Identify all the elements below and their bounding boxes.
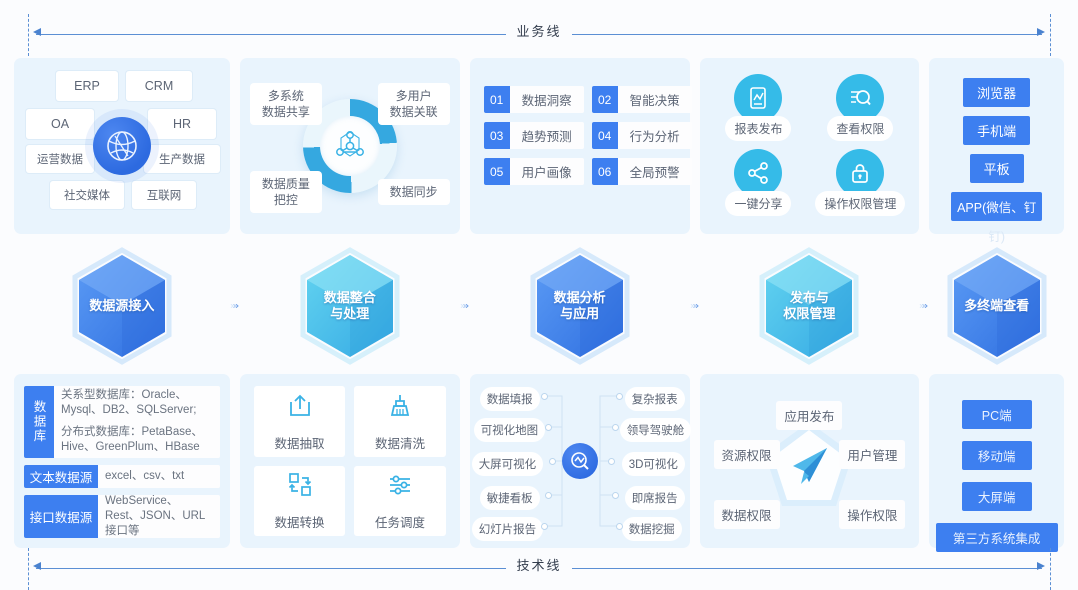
- capability-node-adhoc-report[interactable]: 即席报告: [625, 486, 685, 510]
- db-value-line: WebService、: [105, 495, 213, 509]
- item-label: 趋势预测: [510, 122, 584, 149]
- db-row-key: 数据库: [24, 386, 54, 458]
- data-cube-icon: [330, 126, 370, 166]
- item-label: 任务调度: [375, 512, 425, 531]
- publish-item-view-permission[interactable]: 查看权限: [813, 74, 907, 141]
- capability-node-slide-report[interactable]: 幻灯片报告: [472, 517, 544, 541]
- publish-item-operation-permission[interactable]: 操作权限管理: [813, 149, 907, 216]
- item-label: 操作权限管理: [815, 191, 905, 216]
- tag-line-1: 多用户: [384, 88, 444, 104]
- item-label: 智能决策: [618, 86, 692, 113]
- technology-line-label: 技术线: [0, 555, 1078, 574]
- panel-publish-permissions: 报表发布 查看权限: [700, 58, 920, 234]
- panel-terminals: 浏览器 手机端 平板 APP(微信、钉 钉): [929, 58, 1064, 234]
- item-label: 查看权限: [827, 116, 893, 141]
- tag-line-1: 多系统: [256, 88, 316, 104]
- source-tag-internet[interactable]: 互联网: [132, 181, 196, 209]
- business-line-axis: 业务线: [0, 18, 1078, 52]
- hex-slot-3: 数据分析 与应用: [470, 247, 690, 365]
- item-label: 数据抽取: [275, 433, 325, 452]
- db-row-value: excel、csv、txt: [98, 465, 220, 488]
- technology-line-axis: 技术线: [0, 552, 1078, 586]
- client-chip-large-screen[interactable]: 大屏端: [962, 482, 1032, 511]
- db-row-key: 文本数据源: [24, 465, 98, 488]
- source-tag-erp[interactable]: ERP: [56, 71, 118, 101]
- capability-node-3d-visual[interactable]: 3D可视化: [622, 452, 685, 476]
- flow-arrow-3-icon: [690, 295, 700, 317]
- tag-line-2: 数据关联: [384, 104, 444, 120]
- permission-node-resource-permission[interactable]: 资源权限: [714, 440, 780, 469]
- source-tag-social[interactable]: 社交媒体: [50, 181, 124, 209]
- diagram-canvas: 业务线 ERP CRM OA HR 运营数据 生产数据 社交媒体 互联网: [0, 0, 1078, 588]
- mm-dot: [545, 492, 552, 499]
- tag-line-1: 数据同步: [384, 184, 444, 200]
- capability-node-data-mining[interactable]: 数据挖掘: [622, 517, 682, 541]
- db-value-line: 分布式数据库：PetaBase、: [61, 425, 213, 440]
- etl-item-transform[interactable]: 数据转换: [254, 466, 345, 537]
- publish-item-share[interactable]: 一键分享: [712, 149, 806, 216]
- source-tag-hr[interactable]: HR: [148, 109, 216, 139]
- item-number: 05: [484, 158, 510, 185]
- view-permission-search-icon: [836, 74, 884, 122]
- permission-node-app-publish[interactable]: 应用发布: [776, 401, 842, 430]
- item-label: 数据洞察: [510, 86, 584, 113]
- flow-arrow-1-icon: [230, 295, 240, 317]
- tag-line-2: 把控: [256, 192, 316, 208]
- item-label: 数据清洗: [375, 433, 425, 452]
- analysis-item-04[interactable]: 04 行为分析: [592, 122, 692, 149]
- item-number: 06: [592, 158, 618, 185]
- panel-client-endpoints: PC端 移动端 大屏端 第三方系统集成: [929, 374, 1064, 548]
- capability-node-data-entry[interactable]: 数据填报: [480, 387, 540, 411]
- db-value-line: Hive、GreenPlum、HBase: [61, 440, 213, 455]
- mm-dot: [541, 393, 548, 400]
- label-line-1: 多终端查看: [964, 298, 1029, 314]
- lock-icon: [836, 149, 884, 197]
- item-number: 03: [484, 122, 510, 149]
- broom-clean-icon: [385, 391, 415, 426]
- stage-label: 数据整合 与处理: [324, 290, 376, 322]
- client-chip-third-party[interactable]: 第三方系统集成: [936, 523, 1058, 552]
- mm-dot: [612, 492, 619, 499]
- terminal-chip-tablet[interactable]: 平板: [970, 154, 1024, 183]
- item-number: 02: [592, 86, 618, 113]
- integration-tag-multisystem[interactable]: 多系统 数据共享: [250, 83, 322, 125]
- report-publish-icon: [734, 74, 782, 122]
- panel-data-integration: 多系统 数据共享 多用户 数据关联 数据质量 把控 数据同步: [240, 58, 460, 234]
- publish-item-report[interactable]: 报表发布: [712, 74, 806, 141]
- share-icon: [734, 149, 782, 197]
- item-label: 数据转换: [275, 512, 325, 531]
- source-tag-oa[interactable]: OA: [26, 109, 94, 139]
- db-value-line: 接口等: [105, 524, 213, 538]
- label-line-2: 与处理: [324, 306, 376, 322]
- stage-hexagon-data-source-access[interactable]: 数据源接入: [70, 247, 174, 365]
- hex-slot-5: 多终端查看: [929, 247, 1064, 365]
- integration-tag-quality[interactable]: 数据质量 把控: [250, 171, 322, 213]
- db-value-line: Mysql、DB2、SQLServer;: [61, 403, 213, 418]
- etl-item-schedule[interactable]: 任务调度: [354, 466, 445, 537]
- permission-node-data-permission[interactable]: 数据权限: [714, 500, 780, 529]
- capability-node-agile-dashboard[interactable]: 敏捷看板: [480, 486, 540, 510]
- item-label: 全局预警: [618, 158, 692, 185]
- panel-analysis-topics: 01 数据洞察 02 智能决策 03 趋势预测 04 行为分析 05 用户画: [470, 58, 690, 234]
- mm-dot: [616, 393, 623, 400]
- integration-tag-multiuser[interactable]: 多用户 数据关联: [378, 83, 450, 125]
- db-value-line: excel、csv、txt: [105, 469, 213, 484]
- panel-etl-functions: 数据抽取 数据清洗: [240, 374, 460, 548]
- capability-node-large-screen[interactable]: 大屏可视化: [472, 452, 544, 476]
- globe-network-icon: [93, 117, 151, 175]
- terminal-chip-browser[interactable]: 浏览器: [963, 78, 1030, 107]
- hex-slot-2: 数据整合 与处理: [240, 247, 460, 365]
- capability-node-visual-map[interactable]: 可视化地图: [474, 418, 546, 442]
- db-value-line: 关系型数据库：Oracle、: [61, 388, 213, 403]
- item-label: 行为分析: [618, 122, 692, 149]
- business-line-label: 业务线: [0, 21, 1078, 40]
- analysis-item-03[interactable]: 03 趋势预测: [484, 122, 584, 149]
- analysis-item-05[interactable]: 05 用户画像: [484, 158, 584, 185]
- db-row-key: 接口数据源: [24, 495, 98, 538]
- source-tag-production[interactable]: 生产数据: [144, 145, 220, 173]
- upload-extract-icon: [285, 391, 315, 426]
- mm-dot: [541, 523, 548, 530]
- analysis-item-06[interactable]: 06 全局预警: [592, 158, 692, 185]
- top-panel-row: ERP CRM OA HR 运营数据 生产数据 社交媒体 互联网: [14, 58, 1064, 234]
- stage-hexagon-publish-permission[interactable]: 发布与 权限管理: [757, 247, 861, 365]
- capability-node-leader-cockpit[interactable]: 领导驾驶舱: [620, 418, 692, 442]
- tag-line-1: 数据质量: [256, 176, 316, 192]
- panel-database-sources: 数据库 关系型数据库：Oracle、 Mysql、DB2、SQLServer; …: [14, 374, 230, 548]
- label-line-1: 数据分析: [554, 290, 606, 306]
- mm-dot: [549, 458, 556, 465]
- label-line-1: 数据源接入: [89, 298, 154, 314]
- label-line-2: 与应用: [554, 306, 606, 322]
- permission-node-user-management[interactable]: 用户管理: [839, 440, 905, 469]
- item-label: 一键分享: [725, 191, 791, 216]
- db-value-line: Rest、JSON、URL: [105, 509, 213, 524]
- db-row-text-source[interactable]: 文本数据源 excel、csv、txt: [24, 465, 220, 488]
- mm-dot: [616, 523, 623, 530]
- item-number: 01: [484, 86, 510, 113]
- item-label: 用户画像: [510, 158, 584, 185]
- mm-dot: [612, 424, 619, 431]
- capability-node-complex-report[interactable]: 复杂报表: [625, 387, 685, 411]
- stage-label: 发布与 权限管理: [783, 290, 835, 322]
- flow-arrow-4-icon: [919, 295, 929, 317]
- analysis-item-02[interactable]: 02 智能决策: [592, 86, 692, 113]
- label-line-1: 发布与: [783, 290, 835, 306]
- source-tag-operations[interactable]: 运营数据: [26, 145, 94, 173]
- flow-arrow-2-icon: [460, 295, 470, 317]
- label-line-1: 数据整合: [324, 290, 376, 306]
- db-row-database[interactable]: 数据库 关系型数据库：Oracle、 Mysql、DB2、SQLServer; …: [24, 386, 220, 458]
- db-row-value: WebService、 Rest、JSON、URL 接口等: [98, 495, 220, 538]
- integration-tag-sync[interactable]: 数据同步: [378, 179, 450, 205]
- stage-label: 多终端查看: [964, 298, 1029, 314]
- analytics-search-icon: [562, 443, 598, 479]
- label-line-2: 权限管理: [783, 306, 835, 322]
- source-tag-crm[interactable]: CRM: [126, 71, 192, 101]
- stage-label: 数据源接入: [89, 298, 154, 314]
- etl-item-extract[interactable]: 数据抽取: [254, 386, 345, 457]
- client-chip-mobile[interactable]: 移动端: [962, 441, 1032, 470]
- transform-convert-icon: [285, 470, 315, 505]
- stage-label: 数据分析 与应用: [554, 290, 606, 322]
- bottom-panel-row: 数据库 关系型数据库：Oracle、 Mysql、DB2、SQLServer; …: [14, 374, 1064, 548]
- terminal-chip-mobile[interactable]: 手机端: [963, 116, 1030, 145]
- etl-item-clean[interactable]: 数据清洗: [354, 386, 445, 457]
- item-number: 04: [592, 122, 618, 149]
- db-row-value: 关系型数据库：Oracle、 Mysql、DB2、SQLServer; 分布式数…: [54, 386, 220, 458]
- stage-hexagon-multi-terminal-view[interactable]: 多终端查看: [945, 247, 1049, 365]
- item-label: 报表发布: [725, 116, 791, 141]
- hex-slot-1: 数据源接入: [14, 247, 230, 365]
- tag-line-2: 数据共享: [256, 104, 316, 120]
- db-row-api-source[interactable]: 接口数据源 WebService、 Rest、JSON、URL 接口等: [24, 495, 220, 538]
- terminal-chip-app[interactable]: APP(微信、钉: [951, 192, 1042, 221]
- stage-hexagon-row: 数据源接入: [14, 243, 1064, 368]
- stage-hexagon-data-analysis[interactable]: 数据分析 与应用: [528, 247, 632, 365]
- panel-permission-management: 应用发布 资源权限 用户管理 数据权限 操作权限: [700, 374, 920, 548]
- panel-analysis-capabilities: 数据填报 可视化地图 大屏可视化 敏捷看板 幻灯片报告 复杂报表 领导驾驶舱 3…: [470, 374, 690, 548]
- mm-dot: [608, 458, 615, 465]
- analysis-item-01[interactable]: 01 数据洞察: [484, 86, 584, 113]
- sliders-schedule-icon: [385, 470, 415, 505]
- permission-node-operation-permission[interactable]: 操作权限: [839, 500, 905, 529]
- client-chip-pc[interactable]: PC端: [962, 400, 1032, 429]
- hex-slot-4: 发布与 权限管理: [700, 247, 920, 365]
- stage-hexagon-data-integration[interactable]: 数据整合 与处理: [298, 247, 402, 365]
- panel-data-sources: ERP CRM OA HR 运营数据 生产数据 社交媒体 互联网: [14, 58, 230, 234]
- mm-dot: [545, 424, 552, 431]
